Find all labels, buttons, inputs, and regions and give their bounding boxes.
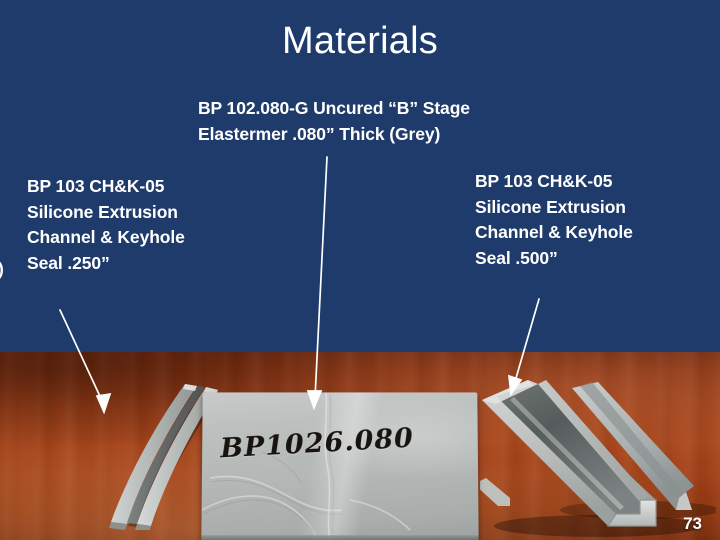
clipped-paren-glyph: ) (0, 257, 4, 283)
callout-left-line-3: Channel & Keyhole (27, 225, 185, 251)
callout-right-line-2: Silicone Extrusion (475, 195, 633, 221)
callout-right-line-4: Seal .500” (475, 246, 633, 272)
sheet-bottom-edge (201, 535, 478, 540)
callout-center-line-2: Elastermer .080” Thick (Grey) (198, 122, 470, 148)
callout-left-line-2: Silicone Extrusion (27, 200, 185, 226)
sheet-specular-highlight (201, 392, 478, 540)
callout-right-line-1: BP 103 CH&K-05 (475, 169, 633, 195)
callout-label-center: BP 102.080-G Uncured “B” Stage Elasterme… (198, 96, 470, 147)
page-title: Materials (0, 22, 720, 62)
callout-label-left: BP 103 CH&K-05 Silicone Extrusion Channe… (27, 174, 185, 277)
page-number: 73 (683, 514, 702, 534)
callout-left-line-4: Seal .250” (27, 251, 185, 277)
callout-center-line-1: BP 102.080-G Uncured “B” Stage (198, 96, 470, 122)
silicone-extrusion-right (480, 360, 716, 540)
callout-label-right: BP 103 CH&K-05 Silicone Extrusion Channe… (475, 169, 633, 272)
product-photograph: BP1026.080 (0, 352, 720, 540)
callout-left-line-1: BP 103 CH&K-05 (27, 174, 185, 200)
callout-right-line-3: Channel & Keyhole (475, 220, 633, 246)
uncured-elastomer-sheet: BP1026.080 (201, 392, 478, 540)
presentation-slide: Materials BP 102.080-G Uncured “B” Stage… (0, 0, 720, 540)
